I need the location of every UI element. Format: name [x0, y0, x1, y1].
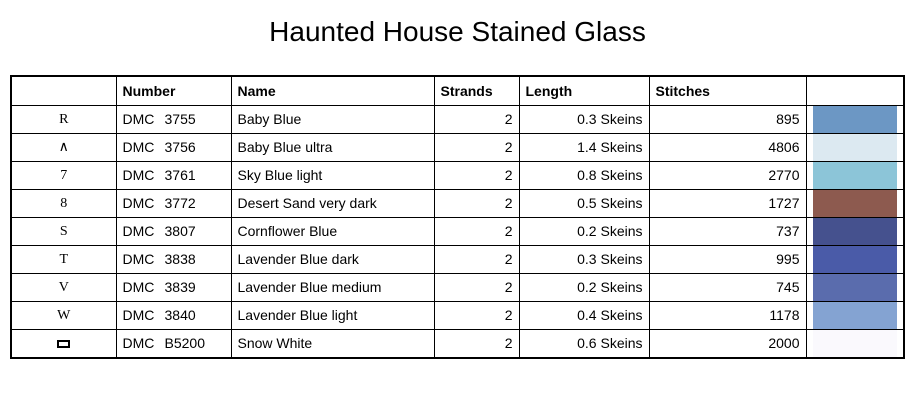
column-header-strands: Strands	[434, 76, 519, 106]
column-header-stitches: Stitches	[649, 76, 806, 106]
cell-stitches: 1178	[649, 302, 806, 330]
cell-color-name: Baby Blue ultra	[231, 134, 434, 162]
cell-number: DMC3838	[116, 246, 231, 274]
floss-code: 3840	[165, 302, 196, 329]
cell-strands: 2	[434, 190, 519, 218]
cell-color-swatch	[806, 330, 904, 359]
cell-strands: 2	[434, 330, 519, 359]
table-row: DMCB5200Snow White20.6 Skeins2000	[11, 330, 904, 359]
floss-brand: DMC	[123, 106, 165, 133]
table-row: 7DMC3761Sky Blue light20.8 Skeins2770	[11, 162, 904, 190]
cell-length: 0.2 Skeins	[519, 218, 649, 246]
cell-strands: 2	[434, 274, 519, 302]
floss-brand: DMC	[123, 190, 165, 217]
cell-strands: 2	[434, 218, 519, 246]
cell-symbol: 7	[11, 162, 116, 190]
color-swatch	[813, 246, 898, 273]
column-header-length: Length	[519, 76, 649, 106]
cell-color-name: Cornflower Blue	[231, 218, 434, 246]
floss-code: 3839	[165, 274, 196, 301]
cell-symbol: T	[11, 246, 116, 274]
color-swatch	[813, 162, 898, 189]
color-swatch	[813, 218, 898, 245]
cell-color-swatch	[806, 162, 904, 190]
cell-strands: 2	[434, 302, 519, 330]
color-swatch	[813, 190, 898, 217]
floss-code: 3772	[165, 190, 196, 217]
cell-color-name: Snow White	[231, 330, 434, 359]
floss-brand: DMC	[123, 134, 165, 161]
cell-number: DMC3772	[116, 190, 231, 218]
table-row: TDMC3838Lavender Blue dark20.3 Skeins995	[11, 246, 904, 274]
color-swatch	[813, 134, 898, 161]
floss-brand: DMC	[123, 274, 165, 301]
cell-symbol: S	[11, 218, 116, 246]
cell-length: 0.2 Skeins	[519, 274, 649, 302]
cell-color-swatch	[806, 106, 904, 134]
cell-symbol	[11, 330, 116, 359]
cell-symbol: R	[11, 106, 116, 134]
table-row: SDMC3807Cornflower Blue20.2 Skeins737	[11, 218, 904, 246]
color-swatch	[813, 302, 898, 329]
floss-code: 3755	[165, 106, 196, 133]
table-row: WDMC3840Lavender Blue light20.4 Skeins11…	[11, 302, 904, 330]
floss-brand: DMC	[123, 218, 165, 245]
cell-color-swatch	[806, 190, 904, 218]
floss-code: 3807	[165, 218, 196, 245]
cell-color-swatch	[806, 218, 904, 246]
cell-length: 0.4 Skeins	[519, 302, 649, 330]
cell-length: 0.3 Skeins	[519, 246, 649, 274]
table-body: RDMC3755Baby Blue20.3 Skeins895∧DMC3756B…	[11, 106, 904, 359]
floss-code: 3838	[165, 246, 196, 273]
table-row: 8DMC3772Desert Sand very dark20.5 Skeins…	[11, 190, 904, 218]
column-header-symbol	[11, 76, 116, 106]
cell-length: 1.4 Skeins	[519, 134, 649, 162]
color-swatch	[813, 274, 898, 301]
cell-color-name: Lavender Blue light	[231, 302, 434, 330]
floss-code: 3756	[165, 134, 196, 161]
floss-table-container: Number Name Strands Length Stitches RDMC…	[10, 75, 903, 359]
cell-number: DMC3807	[116, 218, 231, 246]
column-header-number: Number	[116, 76, 231, 106]
cell-symbol: W	[11, 302, 116, 330]
cell-stitches: 2770	[649, 162, 806, 190]
cell-number: DMC3755	[116, 106, 231, 134]
column-header-name: Name	[231, 76, 434, 106]
cell-strands: 2	[434, 134, 519, 162]
cell-number: DMC3840	[116, 302, 231, 330]
cell-color-swatch	[806, 302, 904, 330]
floss-brand: DMC	[123, 162, 165, 189]
table-row: ∧DMC3756Baby Blue ultra21.4 Skeins4806	[11, 134, 904, 162]
table-row: VDMC3839Lavender Blue medium20.2 Skeins7…	[11, 274, 904, 302]
symbol-box-icon	[57, 340, 70, 348]
cell-color-swatch	[806, 246, 904, 274]
cell-color-name: Baby Blue	[231, 106, 434, 134]
cell-color-name: Desert Sand very dark	[231, 190, 434, 218]
floss-code: 3761	[165, 162, 196, 189]
table-row: RDMC3755Baby Blue20.3 Skeins895	[11, 106, 904, 134]
table-header-row: Number Name Strands Length Stitches	[11, 76, 904, 106]
cell-number: DMCB5200	[116, 330, 231, 359]
cell-stitches: 745	[649, 274, 806, 302]
cell-color-name: Lavender Blue dark	[231, 246, 434, 274]
color-swatch	[813, 330, 898, 357]
cell-number: DMC3756	[116, 134, 231, 162]
floss-legend-table: Number Name Strands Length Stitches RDMC…	[10, 75, 905, 359]
cell-color-name: Lavender Blue medium	[231, 274, 434, 302]
cell-strands: 2	[434, 106, 519, 134]
cell-stitches: 2000	[649, 330, 806, 359]
cell-length: 0.5 Skeins	[519, 190, 649, 218]
floss-brand: DMC	[123, 330, 165, 357]
cell-stitches: 995	[649, 246, 806, 274]
cell-color-swatch	[806, 274, 904, 302]
cell-symbol: V	[11, 274, 116, 302]
cell-strands: 2	[434, 246, 519, 274]
cell-strands: 2	[434, 162, 519, 190]
cell-color-swatch	[806, 134, 904, 162]
cell-stitches: 737	[649, 218, 806, 246]
cell-number: DMC3761	[116, 162, 231, 190]
cell-stitches: 1727	[649, 190, 806, 218]
floss-brand: DMC	[123, 302, 165, 329]
cell-length: 0.8 Skeins	[519, 162, 649, 190]
cell-symbol: ∧	[11, 134, 116, 162]
cell-stitches: 895	[649, 106, 806, 134]
cell-stitches: 4806	[649, 134, 806, 162]
cell-length: 0.3 Skeins	[519, 106, 649, 134]
floss-brand: DMC	[123, 246, 165, 273]
cell-symbol: 8	[11, 190, 116, 218]
column-header-swatch	[806, 76, 904, 106]
floss-code: B5200	[165, 330, 205, 357]
cell-number: DMC3839	[116, 274, 231, 302]
cell-color-name: Sky Blue light	[231, 162, 434, 190]
color-swatch	[813, 106, 898, 133]
cell-length: 0.6 Skeins	[519, 330, 649, 359]
page-title: Haunted House Stained Glass	[0, 15, 915, 49]
